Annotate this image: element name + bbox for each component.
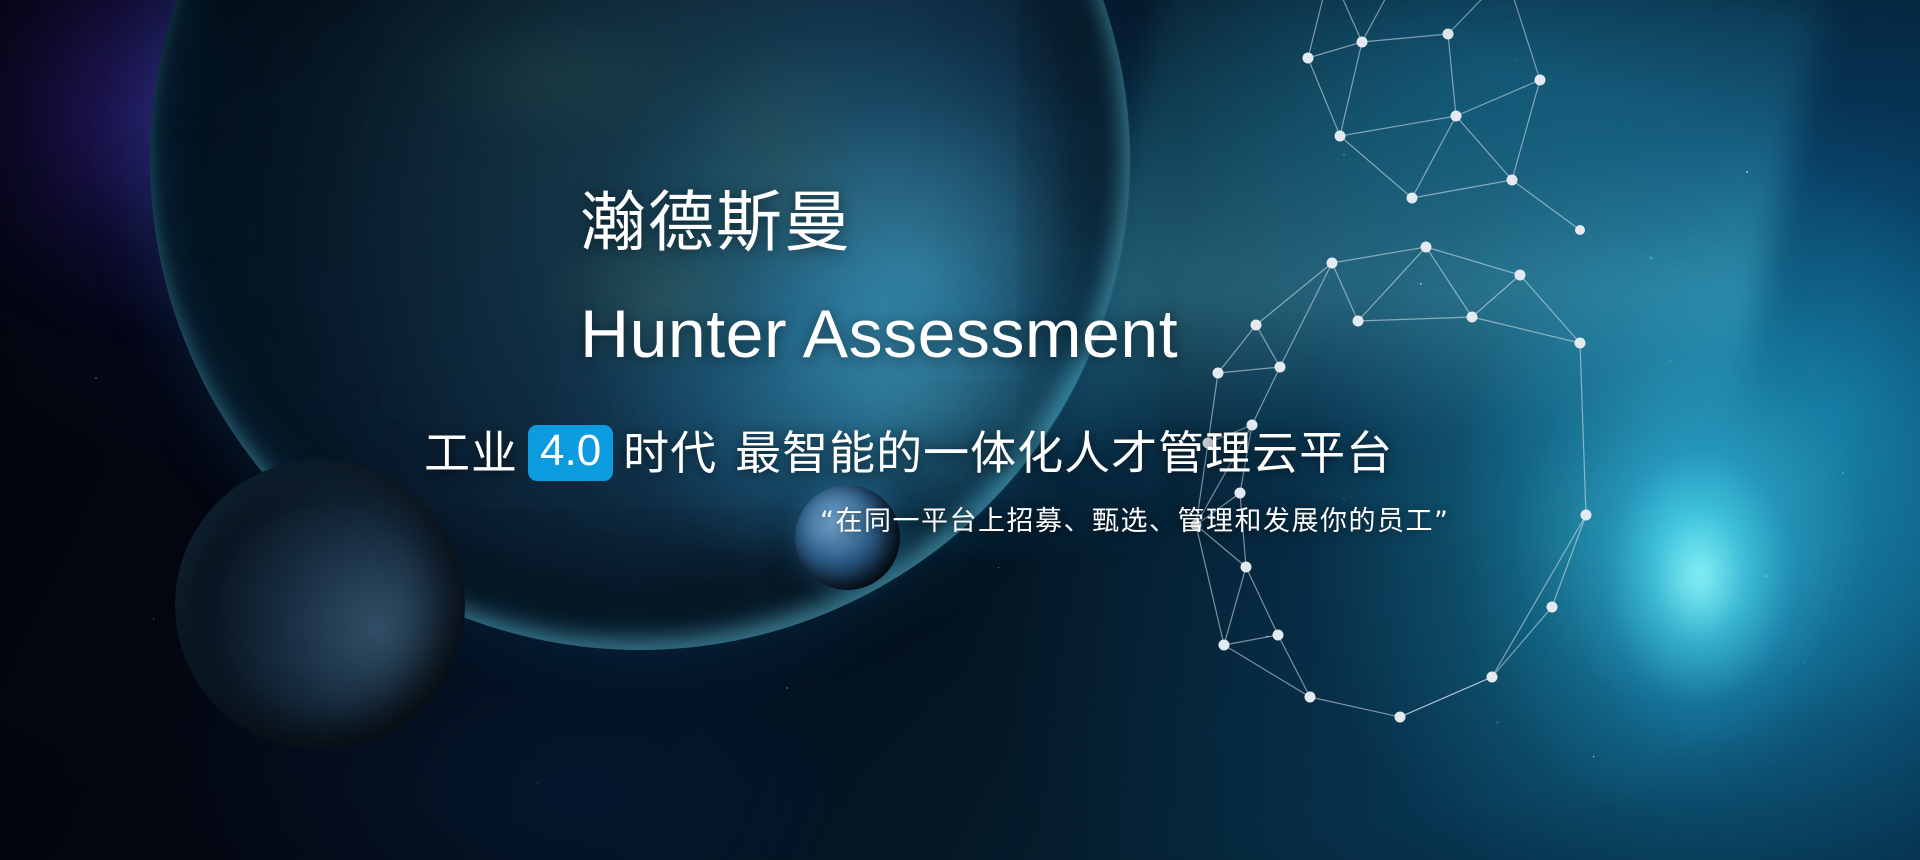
subtitle-prefix: 工业 <box>424 430 518 476</box>
hero-banner: 瀚德斯曼 Hunter Assessment 工业 4.0 时代 最智能的一体化… <box>0 0 1920 860</box>
brand-title-english: Hunter Assessment <box>580 300 1178 368</box>
hero-copy: 瀚德斯曼 Hunter Assessment 工业 4.0 时代 最智能的一体化… <box>0 0 1920 860</box>
brand-title-chinese: 瀚德斯曼 <box>580 190 852 256</box>
hero-subtitle: 工业 4.0 时代 最智能的一体化人才管理云平台 <box>424 425 1393 481</box>
hero-tagline-quote: “在同一平台上招募、甄选、管理和发展你的员工” <box>820 508 1449 535</box>
subtitle-suffix: 最智能的一体化人才管理云平台 <box>735 430 1393 476</box>
subtitle-middle: 时代 <box>623 430 717 476</box>
industry-version-badge: 4.0 <box>528 425 613 481</box>
